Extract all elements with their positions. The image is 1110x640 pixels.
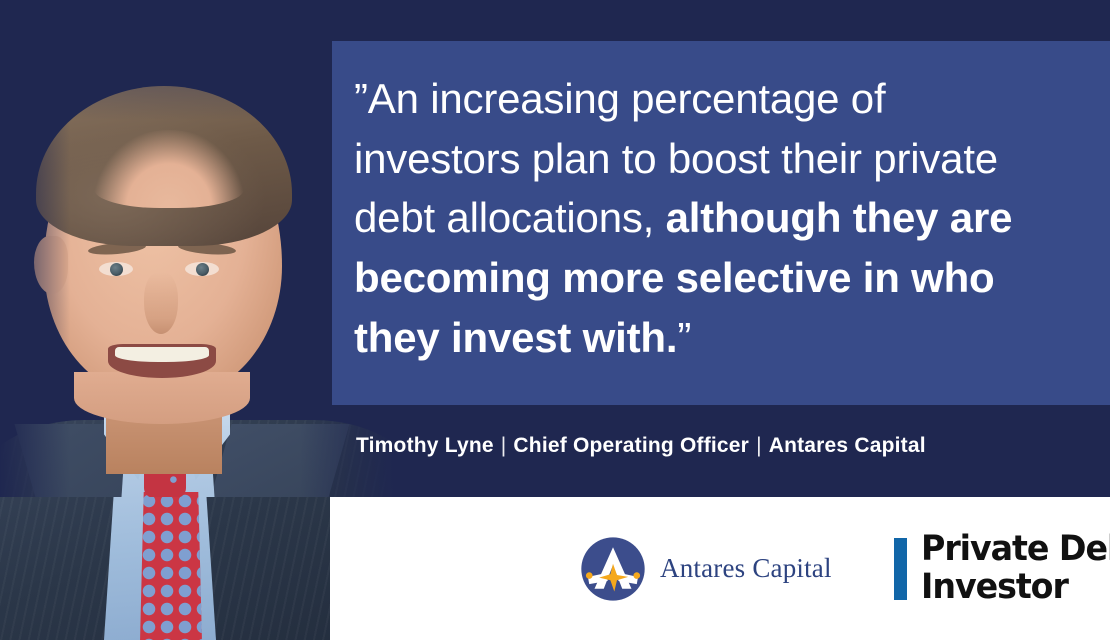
quote-line-2: investors plan to boost their private (354, 135, 998, 182)
teeth (115, 347, 209, 362)
mouth (108, 344, 216, 378)
attribution-separator-1: | (494, 434, 514, 457)
antares-capital-wordmark: Antares Capital (660, 553, 832, 584)
quote-card: ”An increasing percentage of investors p… (0, 0, 1110, 640)
attribution-title: Chief Operating Officer (513, 434, 749, 457)
attribution-company: Antares Capital (769, 434, 926, 457)
quote-panel: ”An increasing percentage of investors p… (332, 41, 1110, 405)
attribution-separator-2: | (749, 434, 769, 457)
footer-bar: Antares Capital Private Debt Investor (0, 497, 1110, 640)
quote-line-1: An increasing percentage of (368, 75, 886, 122)
antares-a-star-mark-icon (580, 536, 646, 602)
eye-right (185, 262, 219, 276)
pdi-wordmark: Private Debt Investor (921, 532, 1110, 605)
pdi-blue-bar-icon (894, 538, 907, 600)
private-debt-investor-logo[interactable]: Private Debt Investor (894, 532, 1110, 605)
quote-line-3: debt allocations, (354, 194, 666, 241)
pdi-wordmark-line-1: Private Debt (921, 532, 1110, 567)
eye-left (99, 262, 133, 276)
antares-capital-logo[interactable]: Antares Capital (580, 536, 832, 602)
attribution-name: Timothy Lyne (356, 434, 494, 457)
quote-close-mark: ” (677, 314, 691, 361)
quote-text: ”An increasing percentage of investors p… (354, 69, 1052, 367)
pdi-wordmark-line-2: Investor (921, 570, 1110, 605)
footer-logos: Antares Capital Private Debt Investor (580, 497, 1110, 640)
quote-open-mark: ” (354, 75, 368, 122)
chin (74, 372, 250, 424)
attribution: Timothy Lyne|Chief Operating Officer|Ant… (356, 434, 926, 458)
nose (144, 272, 178, 334)
